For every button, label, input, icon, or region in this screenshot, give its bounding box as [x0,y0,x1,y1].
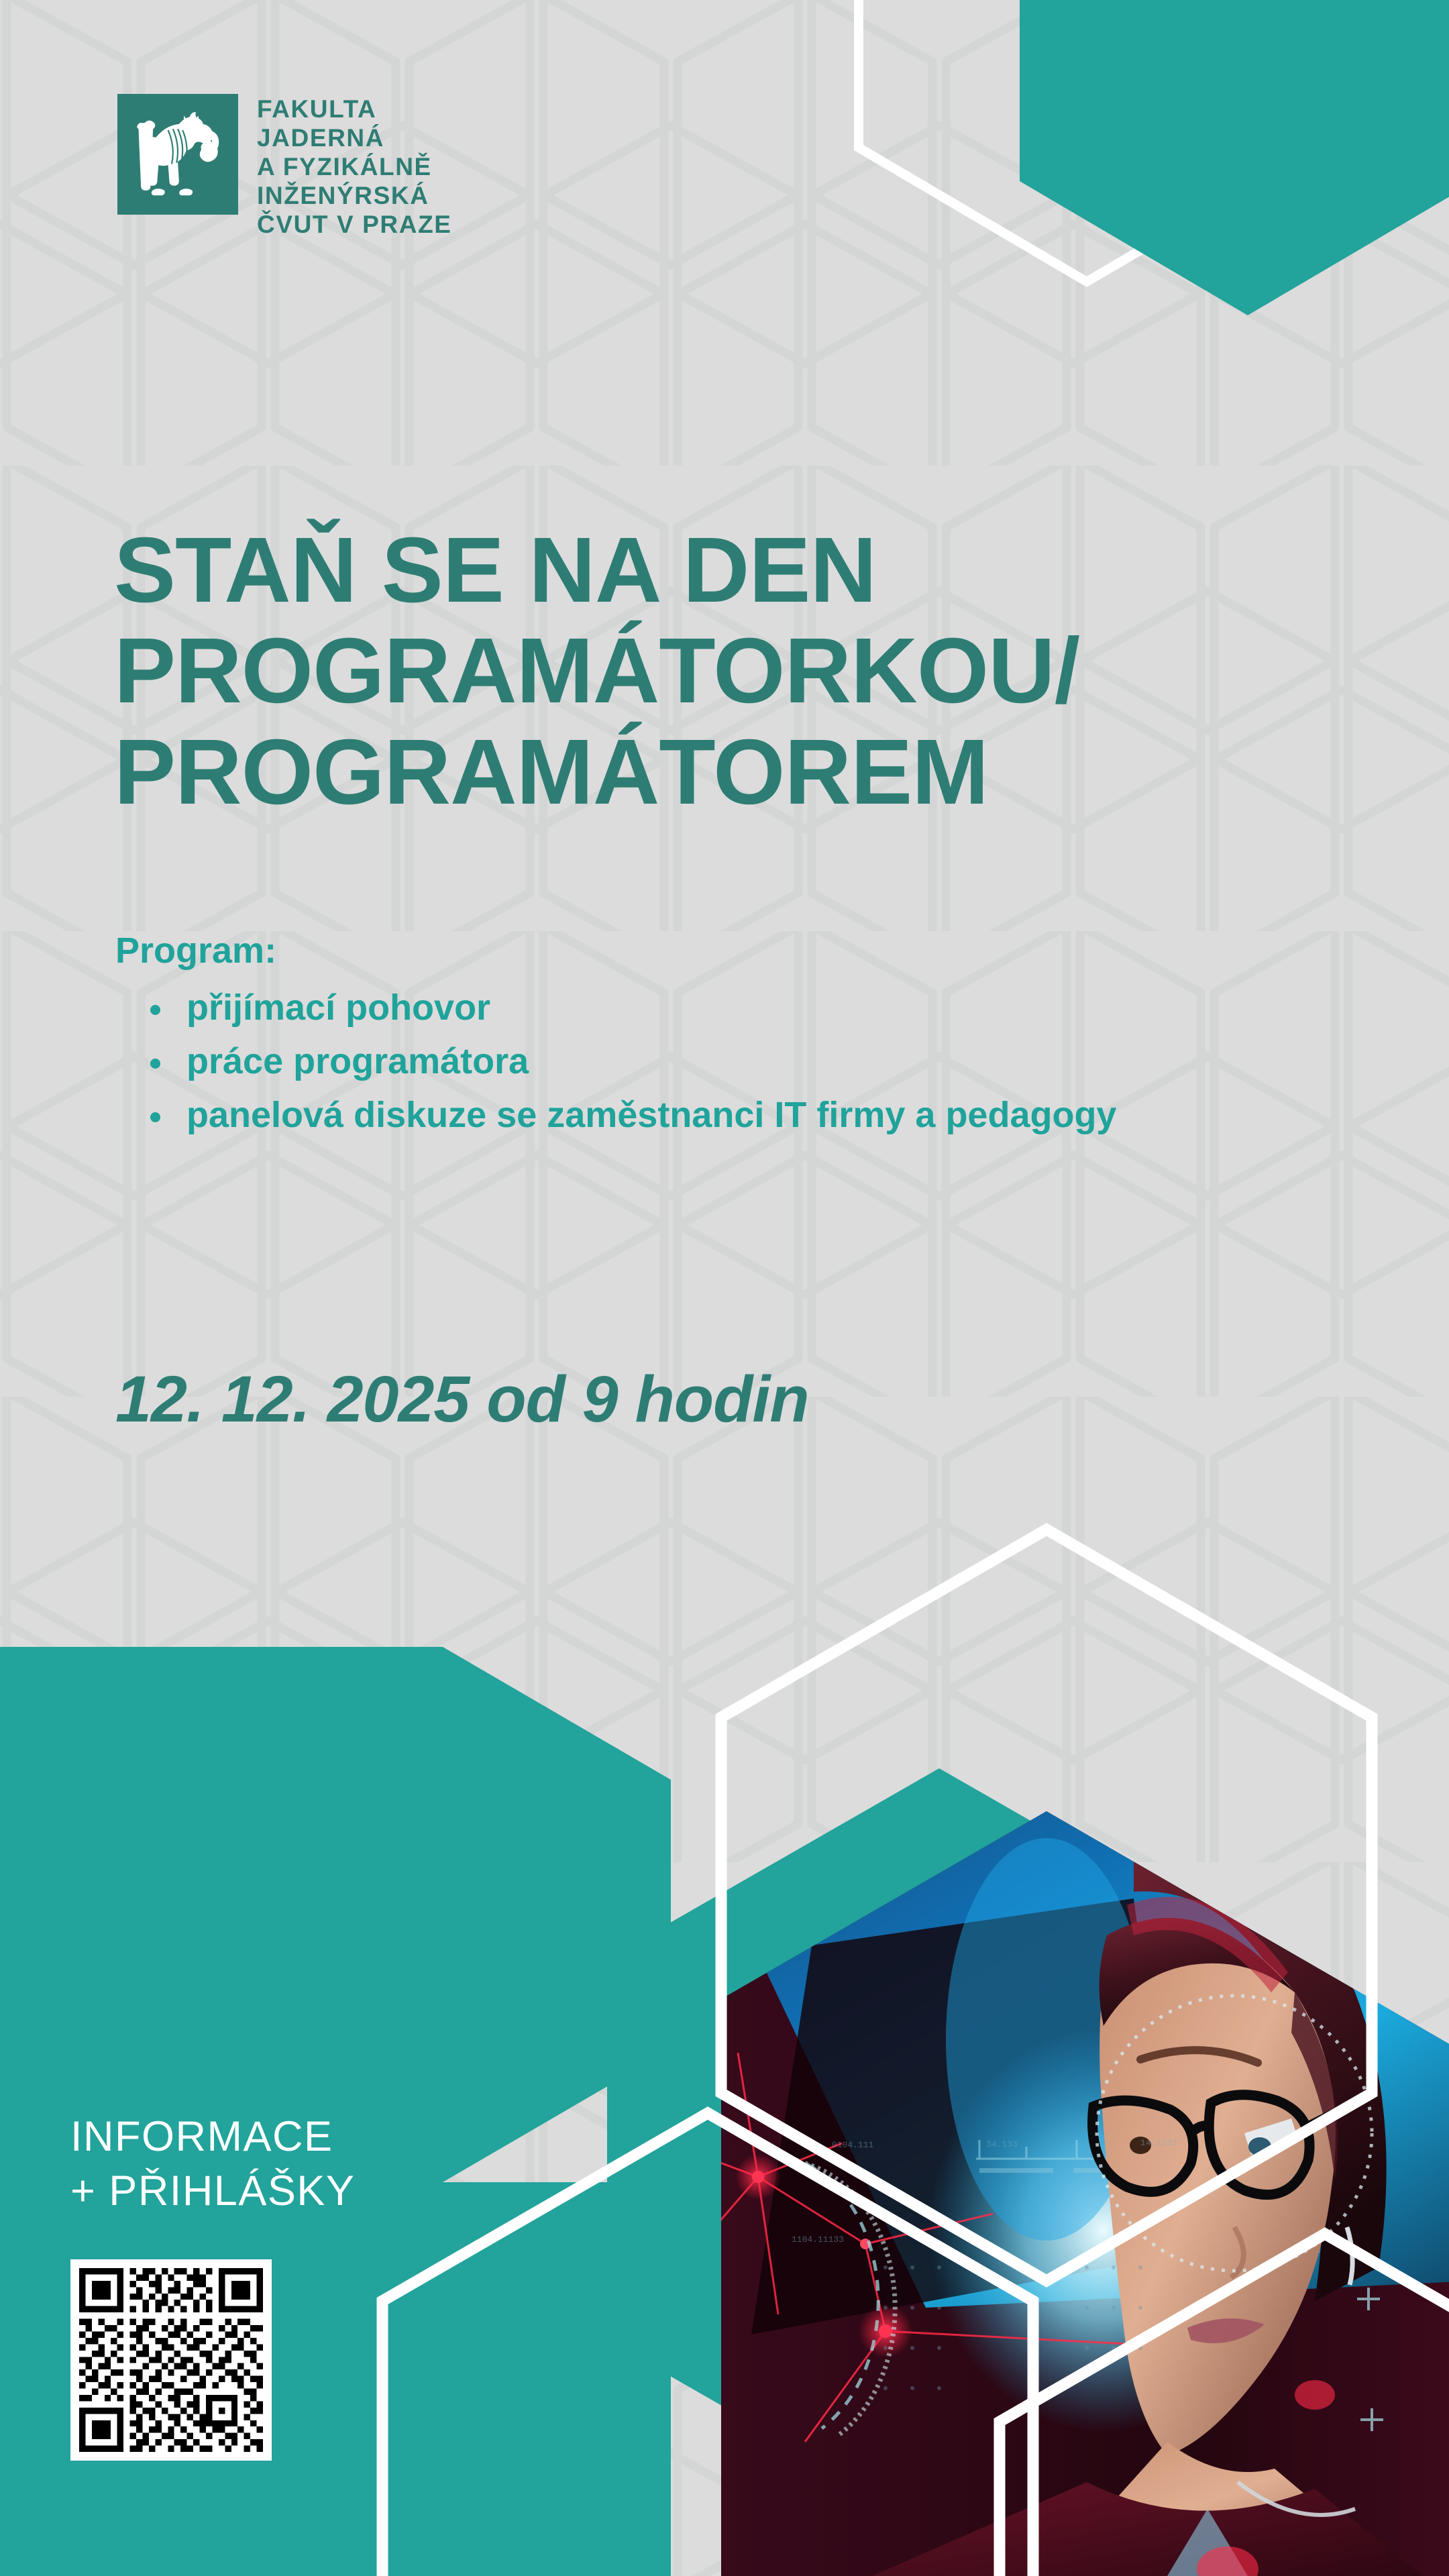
svg-text:34.133: 34.133 [986,2139,1018,2149]
poster-canvas: 1104.11133 0104.111 34.133 14.1333 [0,0,1449,2576]
info-panel-teal-hexagon [0,1647,671,2182]
faculty-logo: FAKULTA JADERNÁ A FYZIKÁLNĚ INŽENÝRSKÁ Č… [117,94,452,239]
faculty-logo-text: FAKULTA JADERNÁ A FYZIKÁLNĚ INŽENÝRSKÁ Č… [257,94,452,239]
logo-line-4: INŽENÝRSKÁ [257,182,452,211]
logo-line-2: JADERNÁ [257,124,452,153]
logo-line-1: FAKULTA [257,95,452,124]
event-date: 12. 12. 2025 od 9 hodin [115,1362,809,1437]
czech-lion-crest-icon [117,94,238,215]
program-item: práce programátora [115,1038,1189,1084]
logo-line-5: ČVUT V PRAZE [257,211,452,239]
program-list: přijímací pohovor práce programátora pan… [115,985,1189,1138]
program-item: panelová diskuze se zaměstnanci IT firmy… [115,1092,1189,1138]
svg-text:14.1333: 14.1333 [1140,2138,1177,2148]
svg-text:0104.111: 0104.111 [832,2140,874,2150]
program-section: Program: přijímací pohovor práce program… [115,929,1189,1146]
poster-headline: STAŇ SE NA DEN PROGRAMÁTORKOU/ PROGRAMÁT… [114,520,1322,822]
registration-qr-code[interactable] [70,2259,272,2461]
program-title: Program: [115,929,1189,973]
program-item: přijímací pohovor [115,985,1189,1030]
svg-text:1104.11133: 1104.11133 [792,2235,844,2245]
info-block: INFORMACE + PŘIHLÁŠKY [70,2110,355,2461]
logo-line-3: A FYZIKÁLNĚ [257,153,452,182]
top-right-hexagon-decoration [778,0,1449,604]
info-line-prihlasky: + PŘIHLÁŠKY [70,2164,355,2218]
teal-solid-hexagon [1020,0,1449,315]
info-line-informace: INFORMACE [70,2110,355,2164]
